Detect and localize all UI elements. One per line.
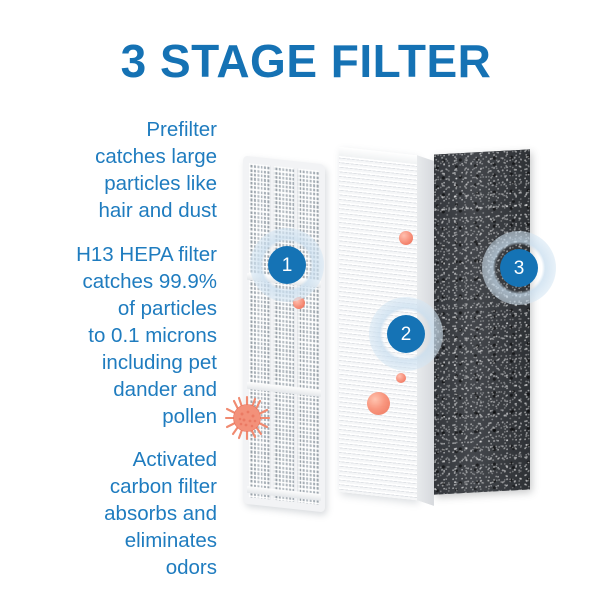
- mesh-column: [298, 169, 319, 505]
- badge-number: 2: [387, 315, 425, 353]
- virus-particle-icon: [224, 395, 270, 441]
- carbon-filter-panel: [434, 149, 530, 494]
- badge-number: 1: [268, 246, 306, 284]
- mesh-column: [274, 166, 295, 502]
- three-stage-filter-infographic: 3 STAGE FILTER Prefilter catches large p…: [0, 0, 612, 612]
- filter-stack-illustration: 1 2 3: [0, 0, 612, 612]
- stage-badge-3[interactable]: 3: [482, 231, 556, 305]
- particle-dot: [396, 373, 406, 383]
- prefilter-panel: [243, 156, 325, 513]
- hepa-top-edge: [339, 147, 417, 164]
- stage-badge-2[interactable]: 2: [369, 297, 443, 371]
- particle-dot: [399, 231, 413, 245]
- stage-badge-1[interactable]: 1: [250, 228, 324, 302]
- particle-cluster: [367, 392, 390, 415]
- badge-number: 3: [500, 249, 538, 287]
- prefilter-mesh: [249, 163, 319, 505]
- mesh-column: [249, 163, 270, 499]
